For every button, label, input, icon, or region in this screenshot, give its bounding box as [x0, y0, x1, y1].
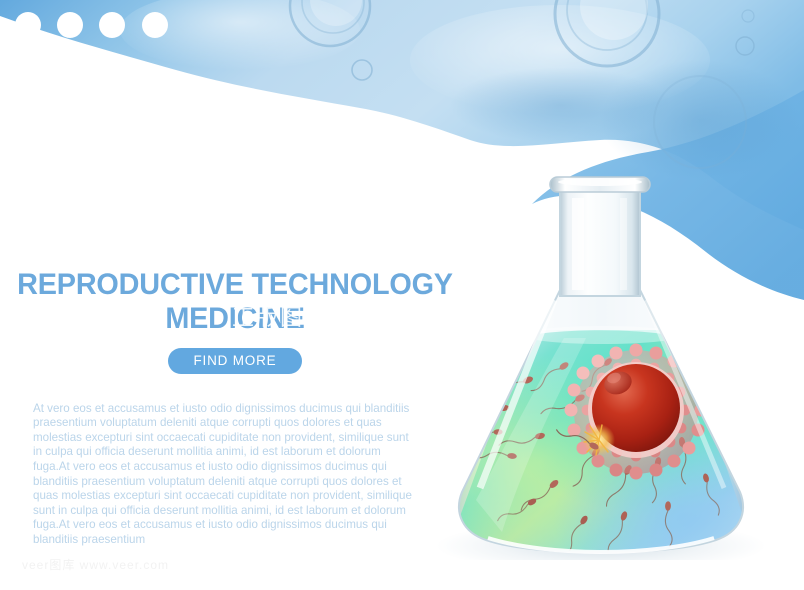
bubble-sheen	[310, 0, 362, 26]
water-highlight	[410, 5, 710, 115]
water-highlight	[120, 0, 360, 70]
cta-container: FIND MORE	[0, 348, 470, 374]
banner-canvas: REPRODUCTIVE TECHNOLOGY MEDICINE FIND MO…	[0, 0, 804, 590]
headline-line-1: REPRODUCTIVE TECHNOLOGY	[17, 268, 453, 301]
rim-highlight	[558, 178, 642, 186]
water-shadow	[450, 67, 670, 143]
body-paragraph: At vero eos et accusamus et iusto odio d…	[33, 402, 418, 548]
decorative-dot	[99, 12, 125, 38]
neck-highlight	[620, 198, 627, 290]
bubble-sheen	[580, 0, 648, 40]
page-title: REPRODUCTIVE TECHNOLOGY MEDICINE	[9, 268, 460, 335]
decorative-dot	[142, 12, 168, 38]
decorative-dot	[15, 12, 41, 38]
watermark-bottom: veer图库 www.veer.com	[22, 556, 169, 573]
flask-illustration	[430, 140, 770, 560]
decorative-dot	[57, 12, 83, 38]
flask-contents	[438, 326, 770, 560]
neck-highlight	[572, 198, 584, 290]
fertilization-spark	[583, 424, 615, 456]
find-more-button[interactable]: FIND MORE	[168, 348, 303, 374]
headline-line-2: MEDICINE	[9, 302, 460, 336]
